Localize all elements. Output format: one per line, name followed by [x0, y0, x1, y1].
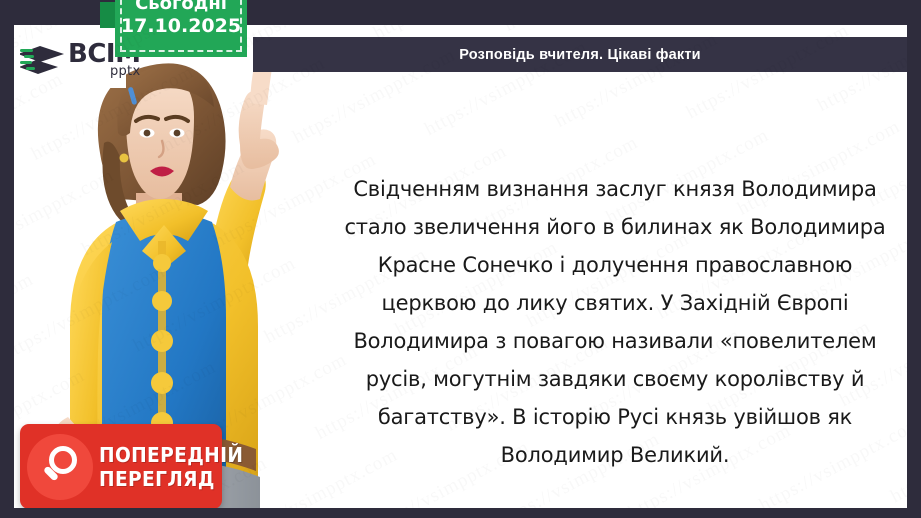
preview-badge-line2: ПЕРЕГЛЯД	[99, 467, 243, 491]
magnifier-icon	[27, 434, 93, 500]
badge-date-value: 17.10.2025	[121, 15, 241, 39]
slide-header-bar: Розповідь вчителя. Цікаві факти	[253, 37, 907, 72]
badge-today-label: Сьогодні	[135, 0, 227, 15]
preview-badge-line1: ПОПЕРЕДНІЙ	[99, 443, 243, 467]
slide-canvas: п С Розповідь вчителя. Цікаві факти Свід…	[14, 25, 907, 508]
slide-body-text: Свідченням визнання заслуг князя Володим…	[332, 170, 898, 474]
brand-logo: ВСІМ pptx	[14, 30, 126, 88]
preview-badge: ПОПЕРЕДНІЙ ПЕРЕГЛЯД	[20, 424, 222, 508]
graduation-cap-icon	[20, 42, 66, 76]
slide-header-title: Розповідь вчителя. Цікаві факти	[459, 47, 701, 63]
